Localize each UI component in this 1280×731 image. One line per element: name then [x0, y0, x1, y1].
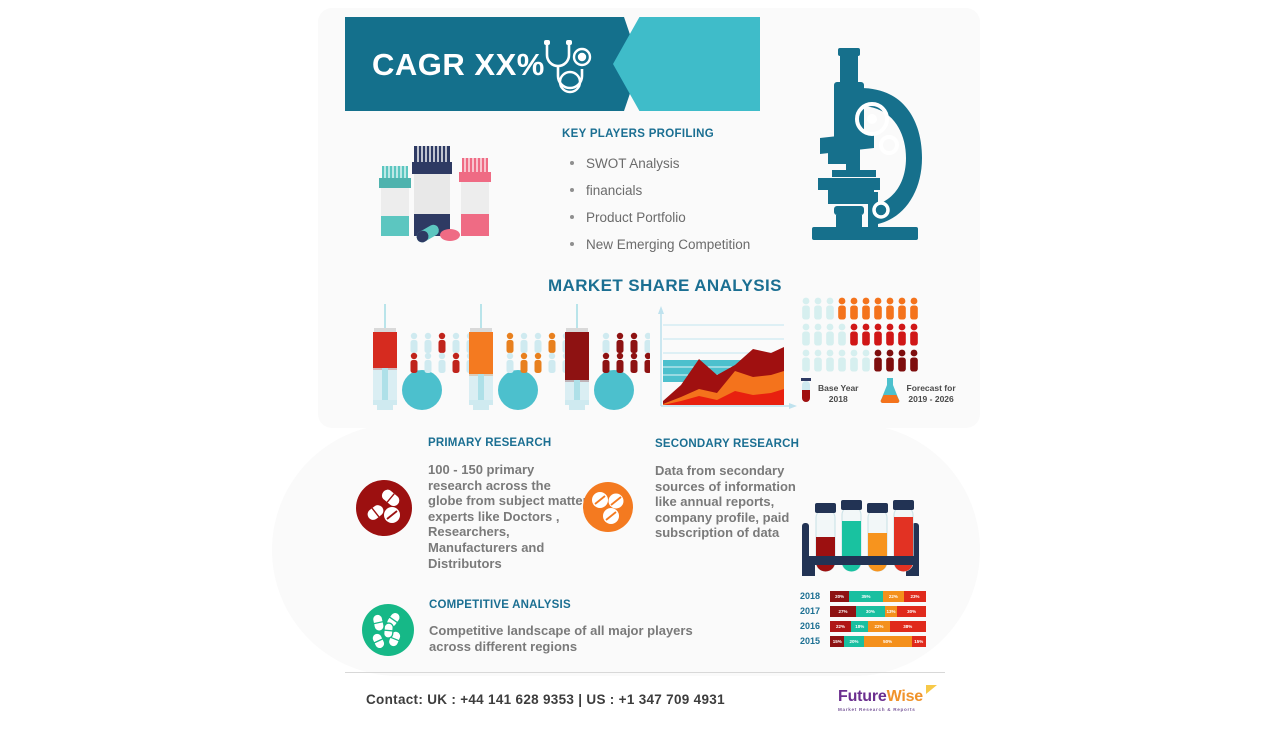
cagr-label: CAGR XX% [372, 47, 545, 83]
bar-segment: 30% [897, 606, 926, 617]
year-bar: 22% 18% 22% 38% [830, 621, 926, 632]
syringes-illustration [360, 302, 650, 422]
secondary-research-block: SECONDARY RESEARCH Data from secondary s… [655, 438, 805, 541]
year-label: 2017 [800, 606, 826, 616]
market-share-legend: Base Year 2018 Forecast for 2019 - 2026 [800, 378, 956, 409]
flask-icon [879, 378, 901, 409]
competitive-analysis-body: Competitive landscape of all major playe… [429, 623, 719, 654]
logo-tagline: Market Research & Reports [838, 707, 923, 712]
bar-segment: 15% [830, 636, 844, 647]
bar-segment: 30% [856, 606, 885, 617]
stethoscope-icon [537, 37, 599, 100]
market-share-title: MARKET SHARE ANALYSIS [548, 276, 782, 296]
pills-icon [356, 480, 412, 536]
year-label: 2015 [800, 636, 826, 646]
futurewise-logo: FutureWise Market Research & Reports [838, 688, 923, 712]
bar-segment: 38% [890, 621, 926, 632]
table-row: 2018 20% 35% 22% 23% [800, 590, 926, 602]
logo-wordmark: FutureWise [838, 688, 923, 706]
table-row: 2016 22% 18% 22% 38% [800, 620, 926, 632]
bar-segment: 22% [830, 621, 851, 632]
secondary-research-body: Data from secondary sources of informati… [655, 463, 805, 541]
tablets-icon [583, 482, 633, 532]
list-item: Product Portfolio [562, 204, 750, 231]
capsules-icon [362, 604, 414, 656]
area-chart [652, 303, 804, 420]
list-item: financials [562, 177, 750, 204]
year-label: 2018 [800, 591, 826, 601]
primary-research-block: PRIMARY RESEARCH 100 - 150 primary resea… [428, 437, 588, 571]
bar-segment: 20% [830, 591, 849, 602]
bar-segment: 18% [851, 621, 868, 632]
key-players-title: KEY PLAYERS PROFILING [562, 128, 714, 140]
bar-segment: 22% [868, 621, 889, 632]
bar-segment: 13% [885, 606, 897, 617]
primary-research-title: PRIMARY RESEARCH [428, 437, 588, 449]
year-bar: 15% 20% 50% 15% [830, 636, 926, 647]
test-tube-rack-illustration [798, 495, 926, 585]
bar-segment: 27% [830, 606, 856, 617]
competitive-analysis-title: COMPETITIVE ANALYSIS [429, 599, 719, 611]
primary-research-body: 100 - 150 primary research across the gl… [428, 462, 588, 571]
contact-info: Contact: UK : +44 141 628 9353 | US : +1… [366, 692, 725, 707]
logo-text-future: Future [838, 688, 887, 705]
key-players-list: SWOT Analysis financials Product Portfol… [562, 150, 750, 258]
pill-bottles-illustration [368, 140, 496, 255]
yearly-share-chart: 2018 20% 35% 22% 23% 2017 27% 30% 13% 30… [800, 590, 926, 650]
test-tube-icon [800, 378, 812, 409]
bar-segment: 20% [844, 636, 863, 647]
table-row: 2017 27% 30% 13% 30% [800, 605, 926, 617]
secondary-research-title: SECONDARY RESEARCH [655, 438, 805, 450]
bar-segment: 23% [904, 591, 926, 602]
banner-light-panel [613, 17, 760, 111]
microscope-icon [808, 22, 926, 249]
logo-flag-icon [926, 685, 937, 694]
year-bar: 20% 35% 22% 23% [830, 591, 926, 602]
bar-segment: 22% [883, 591, 904, 602]
cagr-banner: CAGR XX% [345, 17, 760, 111]
list-item: New Emerging Competition [562, 231, 750, 258]
bar-segment: 15% [912, 636, 926, 647]
table-row: 2015 15% 20% 50% 15% [800, 635, 926, 647]
bar-segment: 50% [864, 636, 912, 647]
year-label: 2016 [800, 621, 826, 631]
infographic-canvas: CAGR XX% [0, 0, 1280, 731]
year-bar: 27% 30% 13% 30% [830, 606, 926, 617]
legend-forecast: Forecast for 2019 - 2026 [907, 383, 956, 405]
footer-divider [345, 672, 945, 673]
people-pictogram-chart [800, 296, 920, 379]
competitive-analysis-block: COMPETITIVE ANALYSIS Competitive landsca… [429, 599, 719, 654]
legend-base-year: Base Year 2018 [818, 383, 859, 405]
list-item: SWOT Analysis [562, 150, 750, 177]
bar-segment: 35% [849, 591, 883, 602]
logo-text-wise: Wise [887, 688, 923, 705]
